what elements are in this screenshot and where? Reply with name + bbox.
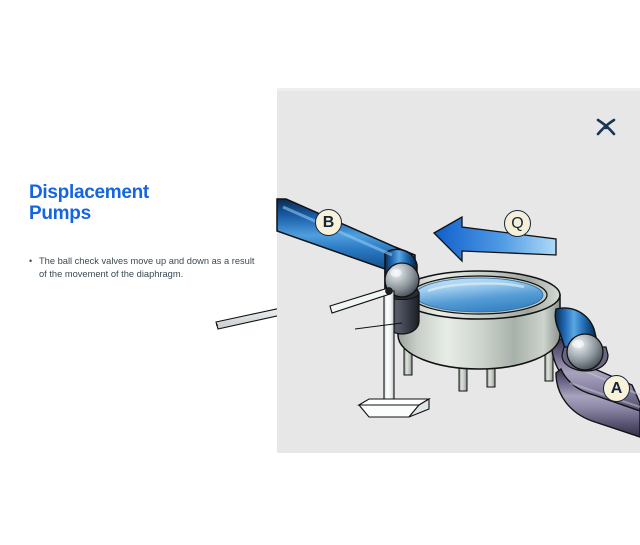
bullet-list: • The ball check valves move up and down… xyxy=(29,255,264,282)
pipe-label-b: B xyxy=(315,209,342,236)
ball-check-valve-lower xyxy=(555,308,608,371)
suction-pipe-a-outlet xyxy=(556,369,640,437)
bullet-text: The ball check valves move up and down a… xyxy=(39,255,264,282)
pump-chamber xyxy=(398,271,560,369)
tie-rod xyxy=(355,323,402,329)
figure-panel xyxy=(277,88,640,453)
flow-arrow xyxy=(434,217,556,261)
pipe-label-a: A xyxy=(603,375,630,402)
slide-canvas: Displacement Pumps • The ball check valv… xyxy=(0,0,640,540)
flow-label-q: Q xyxy=(504,210,531,237)
discharge-pipe-b xyxy=(277,199,417,295)
bowtie-valve-icon xyxy=(594,115,618,139)
support-post xyxy=(359,291,429,417)
chamber-legs xyxy=(404,333,553,391)
lever-arm-top xyxy=(330,288,392,313)
text-column: Displacement Pumps • The ball check valv… xyxy=(29,182,264,281)
ball-check-valve-upper xyxy=(385,263,419,334)
diaphragm xyxy=(415,278,543,312)
page-title: Displacement Pumps xyxy=(29,182,264,225)
list-item: • The ball check valves move up and down… xyxy=(29,255,264,282)
bullet-marker: • xyxy=(29,255,39,268)
